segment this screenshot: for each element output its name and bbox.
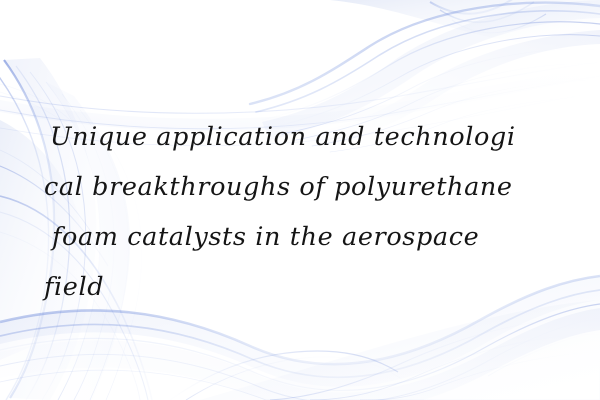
page-title: Unique application and technologi cal br… [44, 112, 564, 312]
title-banner: Unique application and technologi cal br… [0, 0, 600, 400]
title-line-4: field [44, 262, 564, 312]
title-line-2: cal breakthroughs of polyurethane [44, 162, 564, 212]
title-line-1: Unique application and technologi [44, 112, 564, 162]
title-line-3: foam catalysts in the aerospace [44, 212, 564, 262]
